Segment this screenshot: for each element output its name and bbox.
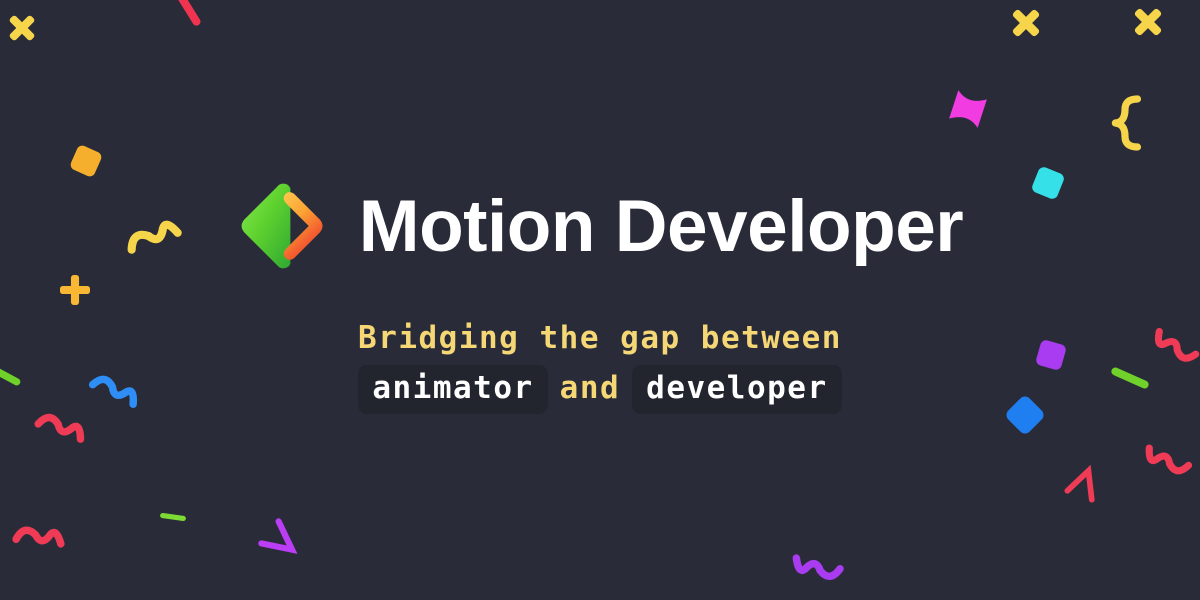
hero-content: Motion Developer Bridging the gap betwee… (0, 0, 1200, 600)
tagline-conjunction: and (558, 365, 623, 414)
motion-developer-logo-icon (237, 180, 329, 272)
page-title: Motion Developer (359, 190, 963, 263)
tagline-chip-animator: animator (358, 365, 547, 414)
tagline-chip-developer: developer (632, 365, 841, 414)
brand-row: Motion Developer (237, 180, 963, 272)
tagline-line-2: animator and developer (358, 365, 841, 414)
tagline: Bridging the gap between animator and de… (358, 320, 842, 413)
hero-banner: Motion Developer Bridging the gap betwee… (0, 0, 1200, 600)
tagline-line-1: Bridging the gap between (358, 320, 842, 357)
